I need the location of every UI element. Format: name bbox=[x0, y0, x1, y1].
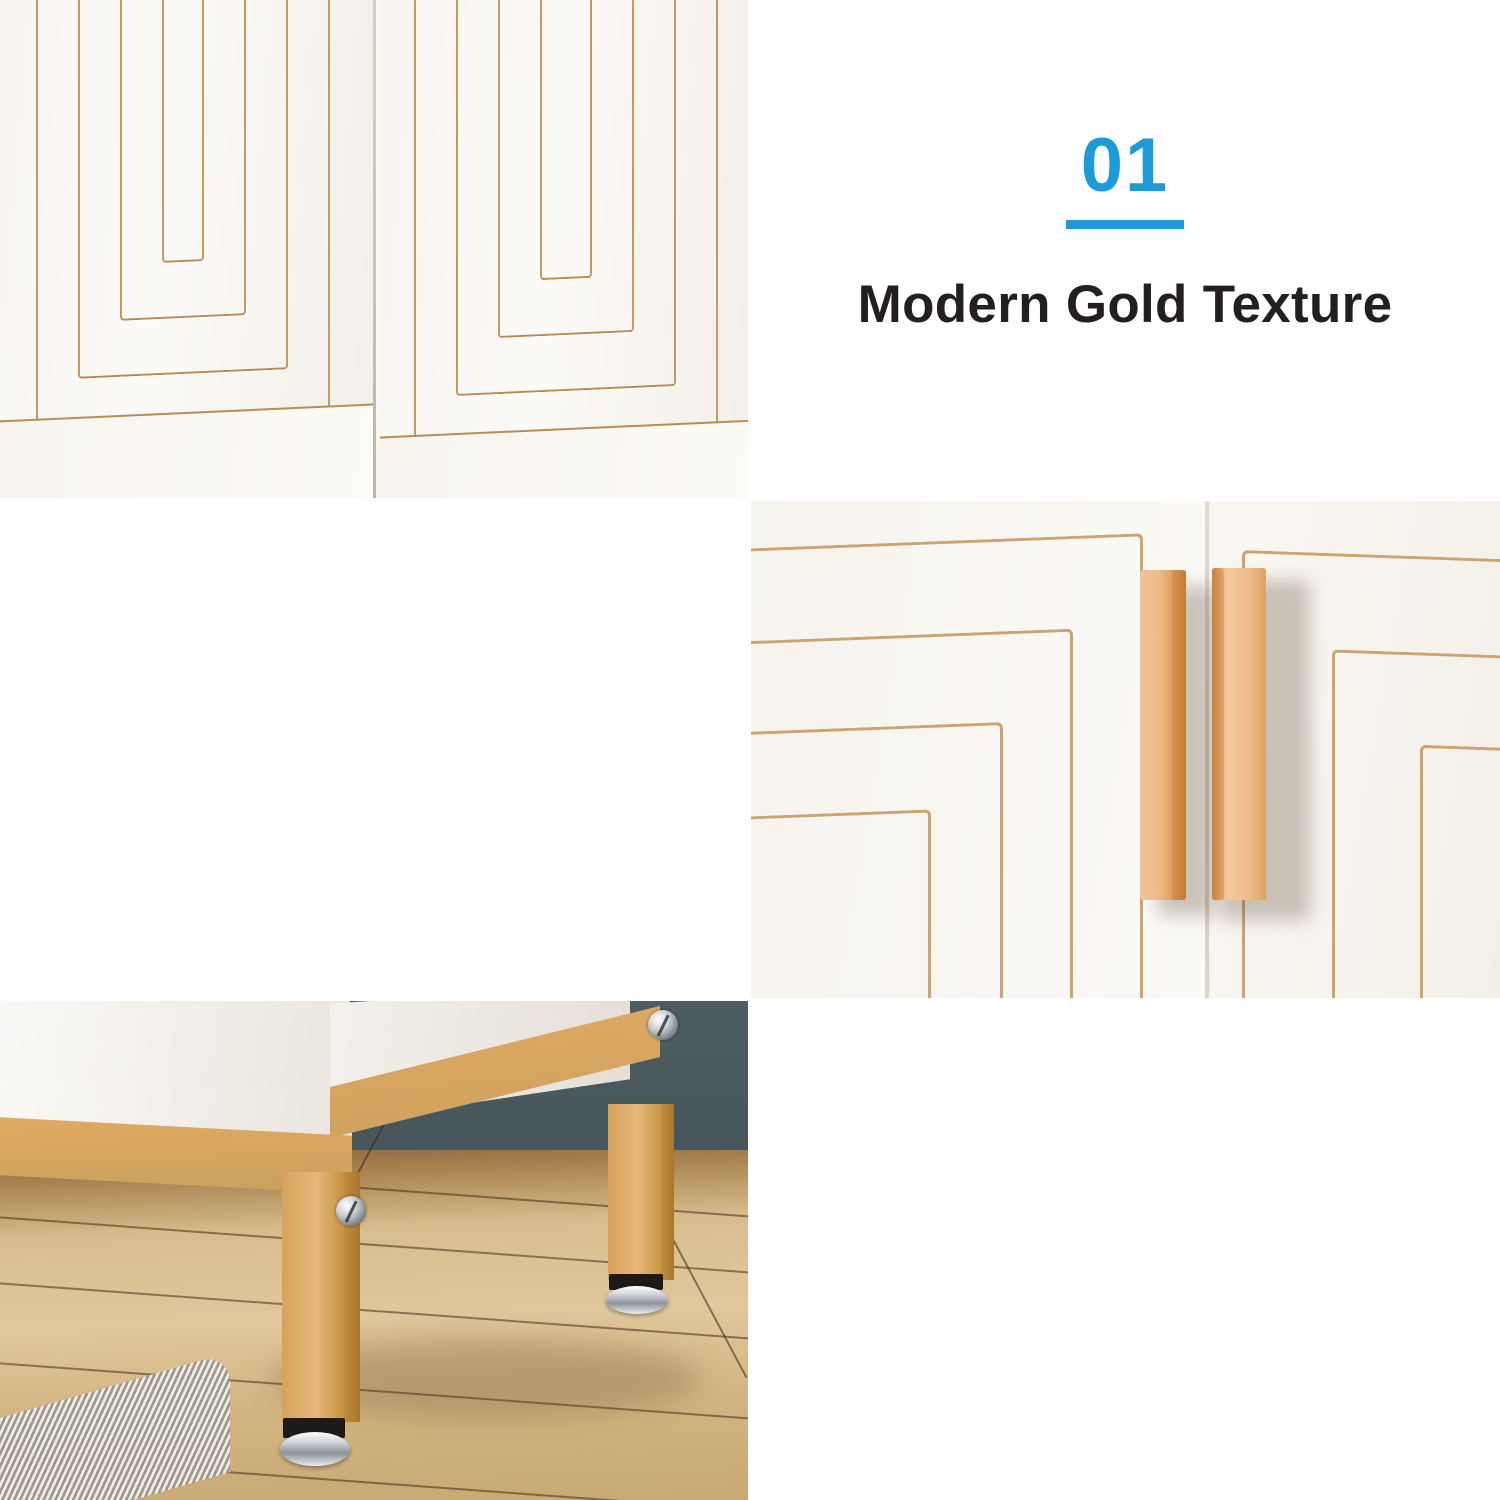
callout-01: 01 Modern Gold Texture bbox=[750, 128, 1500, 336]
handle-bar-right bbox=[1212, 568, 1266, 900]
callout-panel-01: 01 Modern Gold Texture bbox=[750, 0, 1500, 498]
divider-horizontal-bottom bbox=[0, 998, 1500, 1001]
photo-adjustable-feet bbox=[0, 1000, 748, 1500]
adjustable-foot-front bbox=[280, 1432, 350, 1466]
feature-collage: 01 Modern Gold Texture 02 Sturdy Metal H… bbox=[0, 0, 1500, 1500]
leg-screw-front bbox=[336, 1196, 366, 1226]
leg-screw-rear bbox=[648, 1010, 678, 1040]
feature-number-01: 01 bbox=[750, 128, 1500, 204]
cabinet-leg-rear bbox=[608, 1104, 662, 1280]
room-scene bbox=[0, 1000, 748, 1500]
handle-bar-left bbox=[1140, 570, 1186, 900]
divider-horizontal-top bbox=[0, 498, 1500, 501]
divider-vertical bbox=[748, 0, 751, 1500]
callout-panel-02: 02 Sturdy Metal Handle bbox=[0, 500, 748, 998]
cabinet-door-right bbox=[380, 0, 748, 498]
accent-underline-01 bbox=[1066, 220, 1184, 229]
cabinet-leg-front bbox=[282, 1172, 344, 1422]
feature-title-01: Modern Gold Texture bbox=[750, 275, 1500, 336]
photo-metal-handle bbox=[750, 500, 1500, 998]
photo-gold-texture bbox=[0, 0, 748, 498]
callout-panel-03: 03 Adjustable Feet bbox=[750, 1000, 1500, 1500]
adjustable-foot-rear bbox=[606, 1286, 668, 1314]
cabinet-door-left bbox=[0, 0, 376, 498]
